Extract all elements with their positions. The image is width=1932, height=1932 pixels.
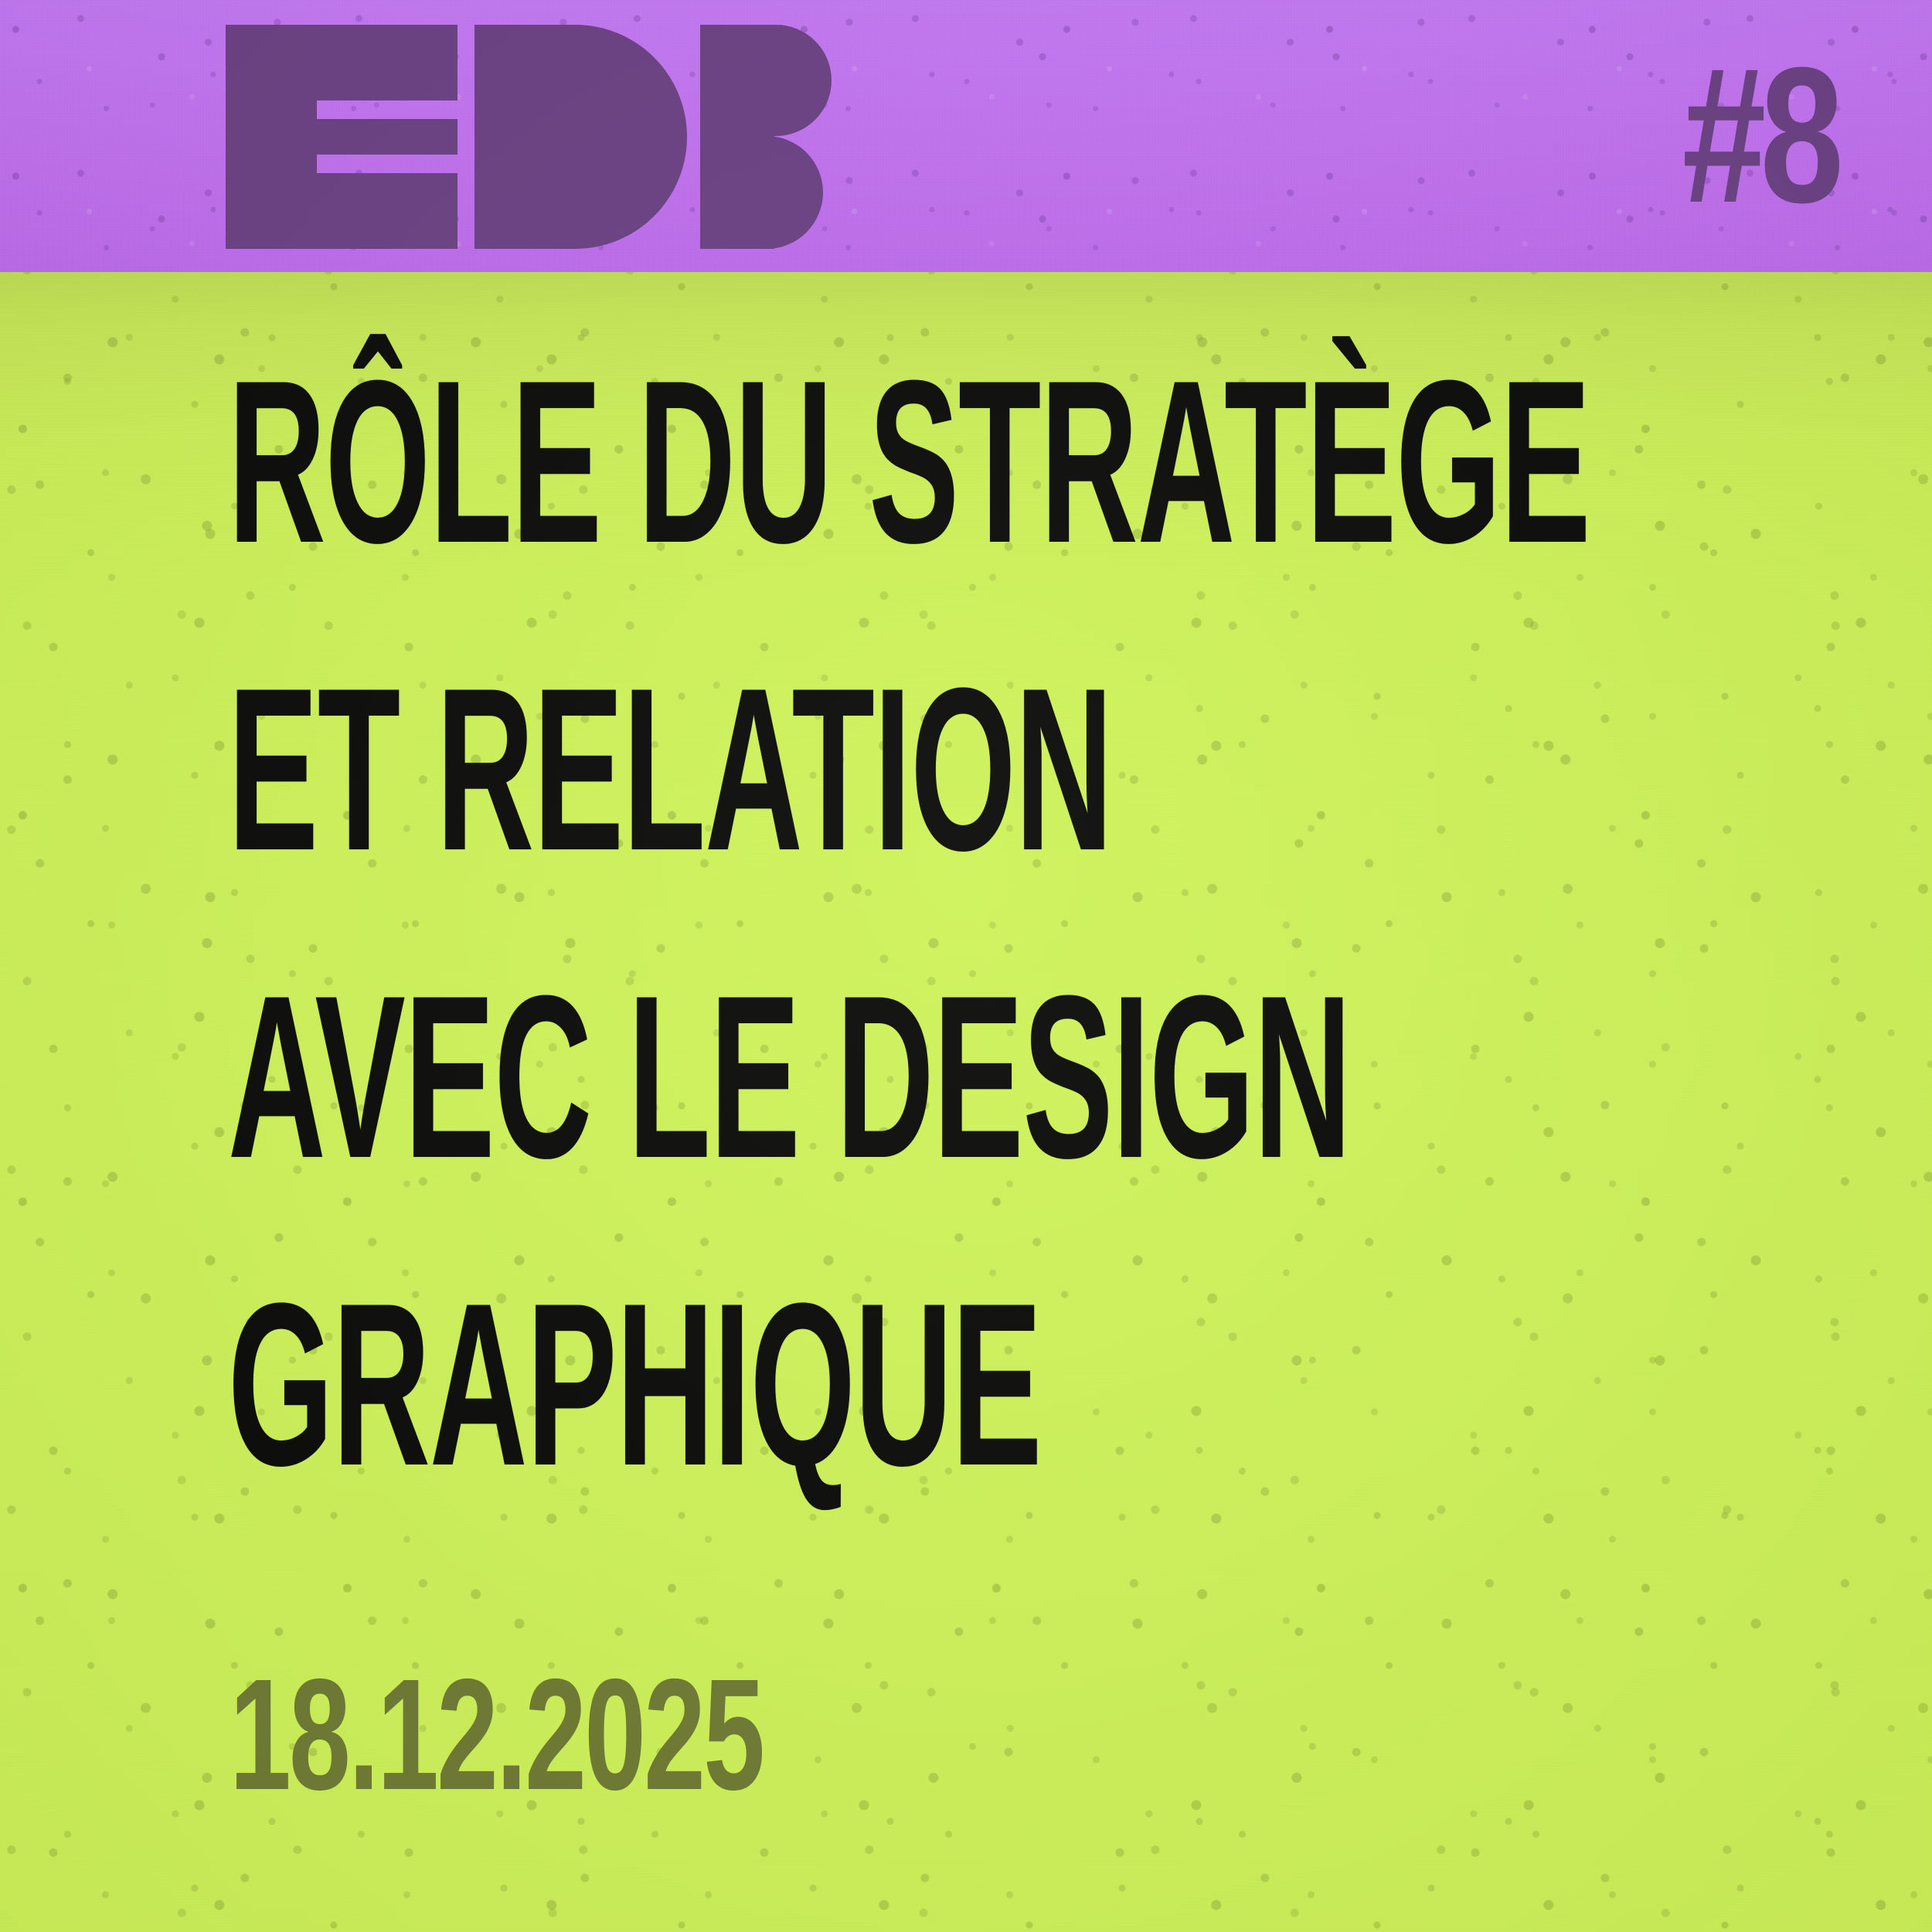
edb-logo[interactable] — [226, 25, 869, 249]
edb-logo-icon — [226, 25, 869, 249]
podcast-episode-poster: #8 RÔLE DU STRATÈGE ET RELATION AVEC LE … — [0, 0, 1932, 1932]
title-line-4: GRAPHIQUE — [228, 1268, 1155, 1500]
title-line-2: ET RELATION — [228, 653, 1155, 885]
title-line-1: RÔLE DU STRATÈGE — [228, 345, 1155, 577]
episode-number: #8 — [1682, 23, 1838, 247]
episode-title: RÔLE DU STRATÈGE ET RELATION AVEC LE DES… — [228, 345, 1812, 1500]
title-line-3: AVEC LE DESIGN — [228, 961, 1155, 1192]
episode-date: 18.12.2025 — [230, 1655, 763, 1814]
